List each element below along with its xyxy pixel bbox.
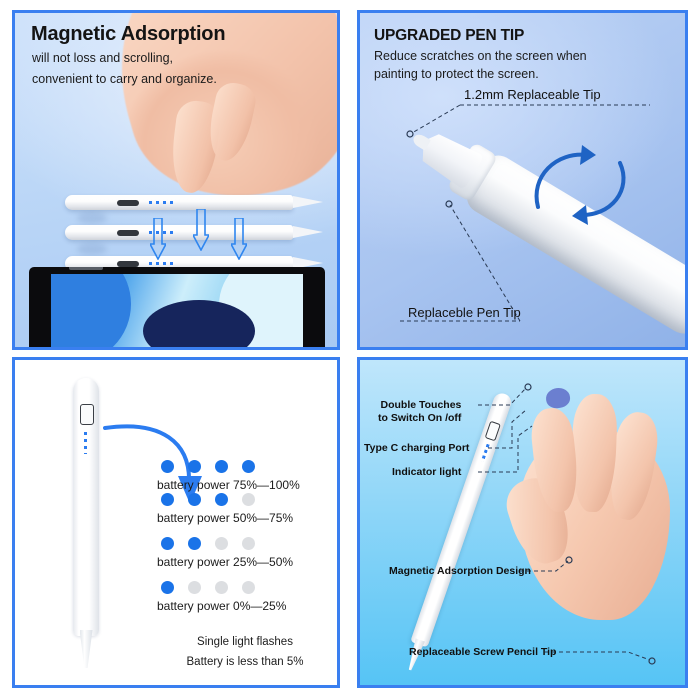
callout-label-indicator-light: Indicator light (392, 466, 461, 479)
battery-legend: battery power 75%—100% battery power 50%… (157, 460, 332, 614)
stylus-shadow (77, 212, 107, 224)
callout-label-screw-tip: Replaceable Screw Pencil Tip (409, 646, 556, 659)
panel-holding-features: Double Touches to Switch On /off Type C … (357, 357, 688, 688)
panel-subtitle-line-1: will not loss and scrolling, (32, 51, 173, 65)
usb-c-port-icon (117, 200, 139, 207)
battery-dot-off (215, 537, 228, 550)
battery-dot-on (188, 537, 201, 550)
battery-dot-off (242, 537, 255, 550)
tablet-power-button (69, 267, 103, 270)
battery-dot-off (188, 581, 201, 594)
battery-row: battery power 50%—75% (157, 493, 332, 525)
panel-subtitle-line-1: Reduce scratches on the screen when (374, 49, 587, 63)
battery-dot-on (188, 493, 201, 506)
down-arrow-icon (231, 218, 247, 260)
panel-subtitle-line-2: painting to protect the screen. (374, 67, 539, 81)
panel-magnetic-adsorption: Magnetic Adsorption will not loss and sc… (12, 10, 340, 350)
usb-c-port-icon (80, 404, 94, 425)
down-arrow-icon (150, 218, 166, 260)
battery-caption: battery power 0%—25% (157, 599, 332, 613)
callout-label-magnetic-design: Magnetic Adsorption Design (389, 565, 531, 578)
stylus-horizontal (65, 225, 293, 240)
panel-subtitle-line-2: convenient to carry and organize. (32, 72, 217, 86)
wallpaper-shape (51, 274, 131, 347)
flash-note-line-1: Single light flashes (165, 636, 325, 648)
battery-caption: battery power 25%—50% (157, 555, 332, 569)
battery-dot-on (242, 460, 255, 473)
battery-dot-on (161, 460, 174, 473)
callout-label-double-touch: Double Touches to Switch On /off (378, 399, 461, 425)
battery-row: battery power 25%—50% (157, 537, 332, 569)
callout-label-replaceable-tip: Replaceble Pen Tip (408, 305, 521, 320)
stylus-tip (80, 630, 93, 668)
battery-dots (157, 581, 332, 594)
callout-label-double-touch-line-2: to Switch On /off (378, 412, 461, 425)
panel-title-magnetic: Magnetic Adsorption (31, 23, 225, 46)
battery-dot-off (242, 493, 255, 506)
panel-battery-indicator: battery power 75%—100% battery power 50%… (12, 357, 340, 688)
stylus-shadow (77, 243, 107, 255)
infographic-grid: Magnetic Adsorption will not loss and sc… (0, 0, 700, 700)
battery-caption: battery power 50%—75% (157, 511, 332, 525)
battery-dot-on (161, 581, 174, 594)
spacer (157, 570, 332, 581)
tablet-screen (51, 274, 303, 347)
battery-dots (157, 493, 332, 506)
callout-label-double-touch-line-1: Double Touches (378, 399, 461, 412)
panel-title-pentip: UPGRADED PEN TIP (374, 27, 524, 45)
battery-dots (157, 460, 332, 473)
stylus-horizontal (65, 195, 293, 210)
battery-dots (157, 537, 332, 550)
battery-dot-off (215, 581, 228, 594)
indicator-leds-icon (149, 201, 175, 204)
panel-upgraded-pen-tip: 1.2mm Replaceable Tip Replaceble Pen Tip… (357, 10, 688, 350)
stylus-vertical (73, 378, 99, 668)
spacer (157, 526, 332, 537)
battery-row: battery power 75%—100% (157, 460, 332, 492)
battery-dot-on (215, 493, 228, 506)
battery-row: battery power 0%—25% (157, 581, 332, 613)
flash-note-line-2: Battery is less than 5% (165, 656, 325, 668)
battery-dot-off (242, 581, 255, 594)
indicator-leds-icon (149, 262, 175, 265)
callout-label-type-c: Type C charging Port (364, 442, 469, 455)
callout-label-tip-size: 1.2mm Replaceable Tip (464, 87, 601, 102)
tablet-device (29, 267, 325, 347)
battery-dot-on (215, 460, 228, 473)
battery-dot-on (161, 493, 174, 506)
indicator-leds-icon (84, 432, 87, 454)
battery-dot-on (188, 460, 201, 473)
battery-caption: battery power 75%—100% (157, 478, 332, 492)
down-arrow-icon (193, 209, 209, 251)
callout-line-top (360, 73, 688, 143)
usb-c-port-icon (117, 230, 139, 237)
battery-dot-on (161, 537, 174, 550)
